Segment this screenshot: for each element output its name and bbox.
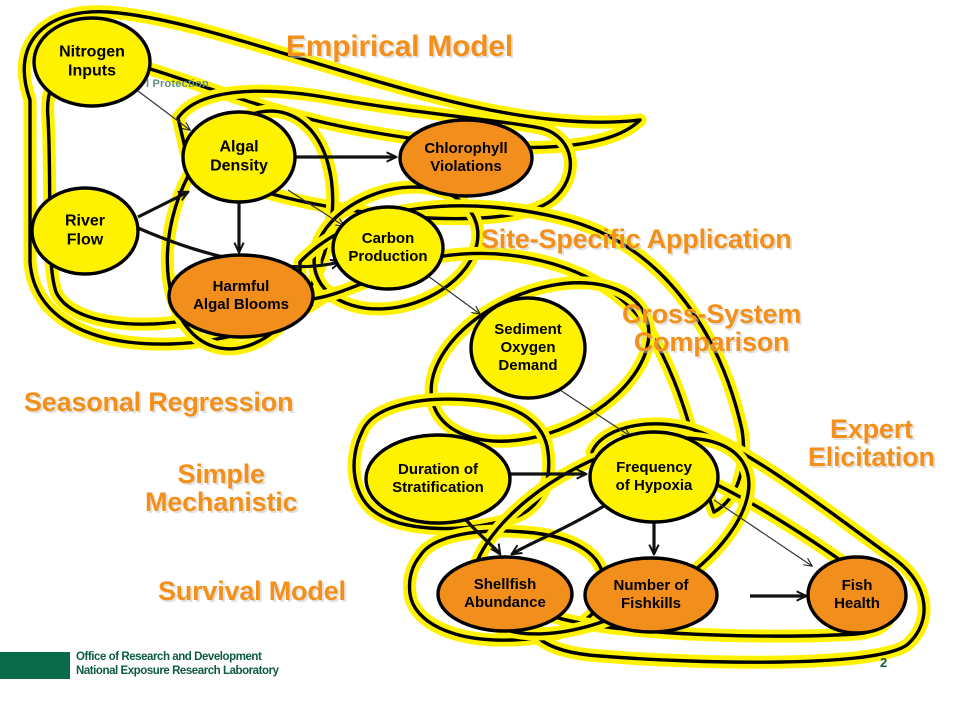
page-number: 2 bbox=[880, 655, 887, 670]
node-label-shellfish-abundance: ShellfishAbundance bbox=[464, 576, 546, 611]
node-harmful-algal-blooms[interactable]: HarmfulAlgal Blooms bbox=[169, 255, 313, 337]
node-shellfish-abundance[interactable]: ShellfishAbundance bbox=[438, 557, 572, 631]
node-label-duration-stratification: Duration ofStratification bbox=[392, 461, 484, 496]
node-algal-density[interactable]: AlgalDensity bbox=[183, 112, 295, 202]
node-duration-stratification[interactable]: Duration ofStratification bbox=[366, 435, 510, 523]
node-chlorophyll-violations[interactable]: ChlorophyllViolations bbox=[400, 120, 532, 196]
node-nitrogen-inputs[interactable]: NitrogenInputs bbox=[34, 18, 150, 106]
node-number-of-fishkills[interactable]: Number ofFishkills bbox=[585, 558, 717, 632]
node-label-sediment-oxygen-demand: SedimentOxygenDemand bbox=[494, 321, 562, 374]
node-label-chlorophyll-violations: ChlorophyllViolations bbox=[424, 140, 507, 175]
node-river-flow[interactable]: RiverFlow bbox=[32, 188, 138, 274]
node-frequency-hypoxia[interactable]: Frequencyof Hypoxia bbox=[590, 432, 718, 522]
node-label-frequency-hypoxia: Frequencyof Hypoxia bbox=[616, 459, 693, 494]
footer-green-bar bbox=[0, 652, 70, 679]
slide-canvas: NitrogenInputsRiverFlowAlgalDensityHarmf… bbox=[0, 0, 960, 720]
node-label-number-of-fishkills: Number ofFishkills bbox=[614, 577, 690, 612]
node-carbon-production[interactable]: CarbonProduction bbox=[333, 207, 443, 289]
footer-organization-text: Office of Research and Development Natio… bbox=[76, 650, 279, 679]
network-diagram: NitrogenInputsRiverFlowAlgalDensityHarmf… bbox=[0, 0, 960, 720]
watermark-text: l Protection bbox=[146, 78, 209, 90]
node-fish-health[interactable]: FishHealth bbox=[808, 557, 906, 633]
node-sediment-oxygen-demand[interactable]: SedimentOxygenDemand bbox=[471, 298, 585, 398]
